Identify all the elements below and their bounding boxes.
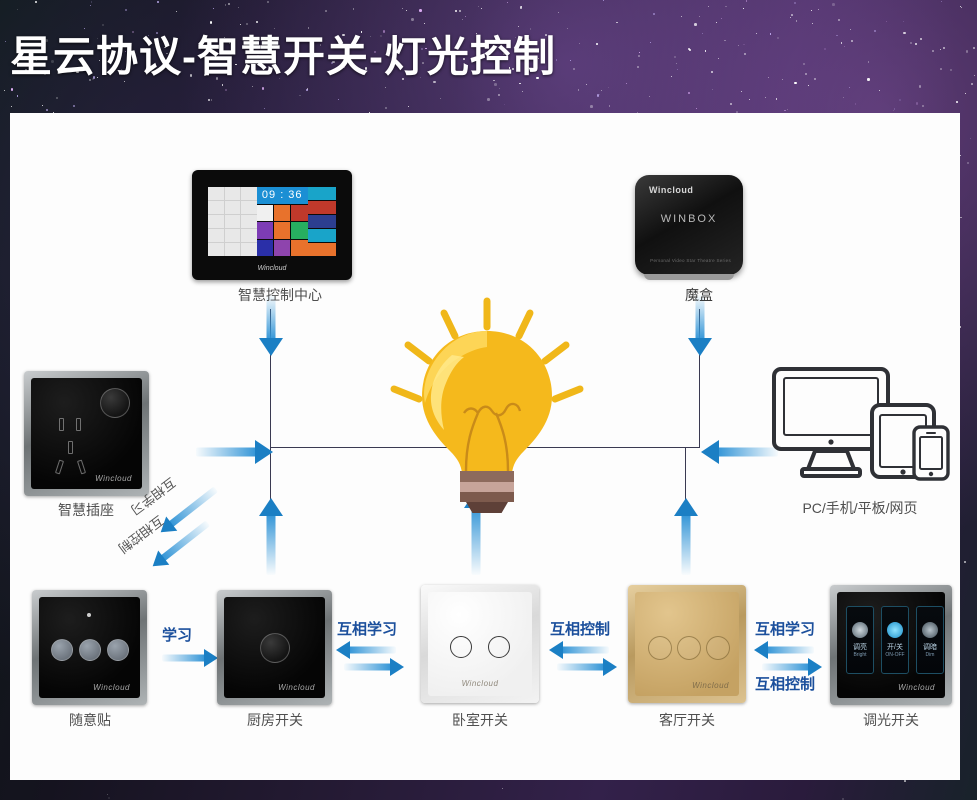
node-switch-living[interactable]: Wincloud [628, 585, 746, 703]
sticker-button-1[interactable] [51, 639, 73, 661]
label-switch-dimmer: 调光开关 [801, 710, 960, 730]
node-switch-sticker[interactable]: Wincloud [32, 590, 147, 705]
page-title: 星云协议-智慧开关-灯光控制 [10, 36, 556, 78]
label-switch-kitchen: 厨房开关 [185, 710, 365, 730]
arrow-head [204, 649, 218, 667]
label-mutual-learn-right: 互相学习 [755, 618, 815, 639]
arrow-mutual-control-middle-back [561, 641, 609, 659]
arrow-head [390, 658, 404, 676]
switch-glass: 调亮 Bright 开/关 ON-OFF 调暗 Dim Wincloud [837, 592, 945, 698]
arrow-head [701, 440, 719, 464]
power-icon [887, 622, 903, 638]
switch-frame: Wincloud [217, 590, 332, 705]
arrow-learn [162, 648, 206, 668]
app-tiles: 09 : 36 [257, 187, 308, 256]
arrow-bedroom-up [464, 505, 488, 575]
node-smart-socket[interactable]: Wincloud [24, 371, 149, 496]
arrow-shaft [682, 513, 691, 575]
node-light-bulb [382, 293, 592, 513]
dimmer-cell-onoff[interactable]: 开/关 ON-OFF [881, 606, 909, 674]
arrow-living-up [674, 513, 698, 575]
node-control-center[interactable]: 09 : 36 Wincloud [192, 170, 352, 280]
dimmer-cell-bright[interactable]: 调亮 Bright [846, 606, 874, 674]
switch-frame: Wincloud [421, 585, 539, 703]
socket-frame: Wincloud [24, 371, 149, 496]
socket-hole-top [68, 441, 73, 454]
living-button-1[interactable] [648, 636, 672, 660]
node-devices[interactable] [768, 365, 954, 485]
dimmer-cell-dim[interactable]: 调暗 Dim [916, 606, 944, 674]
label-devices: PC/手机/平板/网页 [770, 498, 950, 518]
status-tiles [308, 187, 336, 256]
arrow-mutual-learn-left-fwd [344, 658, 392, 676]
dimmer-cell-label-en: ON-OFF [885, 652, 904, 658]
arrow-head [688, 338, 712, 356]
sticker-button-3[interactable] [107, 639, 129, 661]
label-magic-box: 魔盒 [609, 285, 789, 305]
label-switch-living: 客厅开关 [597, 710, 777, 730]
label-switch-bedroom: 卧室开关 [390, 710, 570, 730]
sticker-button-2[interactable] [79, 639, 101, 661]
node-switch-dimmer[interactable]: 调亮 Bright 开/关 ON-OFF 调暗 Dim Wincloud [830, 585, 952, 705]
switch-glass: Wincloud [635, 592, 739, 696]
bedroom-button-2[interactable] [488, 636, 510, 658]
label-learn: 学习 [162, 624, 192, 645]
socket-hole-b2 [77, 460, 86, 475]
switch-brand: Wincloud [278, 683, 315, 692]
bright-icon [852, 622, 868, 638]
switch-glass: Wincloud [224, 597, 325, 698]
arrow-head [336, 641, 350, 659]
arrow-head [674, 498, 698, 516]
arrow-mutual-learn-left-back [348, 641, 396, 659]
switch-brand: Wincloud [692, 681, 729, 690]
switch-brand: Wincloud [462, 679, 499, 688]
light-bulb-icon [382, 293, 592, 513]
switch-frame: Wincloud [32, 590, 147, 705]
arrow-head [603, 658, 617, 676]
keypad-tiles [208, 187, 257, 256]
arrow-head [754, 641, 768, 659]
socket-hole-l1 [59, 418, 64, 431]
control-center-screen: 09 : 36 [208, 187, 336, 256]
switch-brand: Wincloud [93, 683, 130, 692]
status-led [87, 613, 91, 617]
arrow-shaft [472, 505, 481, 575]
arrow-shaft [348, 647, 396, 654]
socket-hole-l2 [76, 418, 81, 431]
label-mutual-control-middle: 互相控制 [550, 618, 610, 639]
node-switch-kitchen[interactable]: Wincloud [217, 590, 332, 705]
arrow-mutual-control-middle-fwd [557, 658, 605, 676]
arrow-shaft [561, 647, 609, 654]
title-bar: 星云协议-智慧开关-灯光控制 [0, 0, 977, 113]
bedroom-button-1[interactable] [450, 636, 472, 658]
arrow-shaft [766, 647, 814, 654]
node-magic-box[interactable]: Wincloud WINBOX Personal Video Star Thea… [635, 175, 743, 275]
socket-touch-button[interactable] [100, 388, 130, 418]
kitchen-button-1[interactable] [260, 633, 290, 663]
socket-hole-b1 [55, 460, 64, 475]
arrow-shaft [557, 664, 605, 671]
diagram-panel: 09 : 36 Wincloud 智慧控制中心 Wincloud WINBOX … [10, 113, 960, 780]
dimmer-cell-label-en: Dim [926, 652, 935, 658]
dimmer-cell-label-cn: 调亮 [853, 642, 867, 652]
switch-glass: Wincloud [428, 592, 532, 696]
clock-tile: 09 : 36 [257, 187, 308, 204]
magic-box-model: WINBOX [661, 213, 718, 225]
arrow-shaft [162, 655, 206, 662]
arrow-head [549, 641, 563, 659]
dim-icon [922, 622, 938, 638]
switch-frame: Wincloud [628, 585, 746, 703]
socket-brand: Wincloud [95, 474, 132, 483]
arrow-socket-to-bus [196, 440, 258, 464]
magic-box-base [644, 274, 735, 280]
switch-frame: 调亮 Bright 开/关 ON-OFF 调暗 Dim Wincloud [830, 585, 952, 705]
dimmer-cell-label-en: Bright [853, 652, 866, 658]
label-mutual-control-right: 互相控制 [755, 673, 815, 694]
socket-glass: Wincloud [31, 378, 142, 489]
diagonal-link-socket: 互相学习 互相控制 [150, 483, 260, 573]
arrow-shaft [267, 513, 276, 575]
switch-brand: Wincloud [898, 683, 935, 692]
node-switch-bedroom[interactable]: Wincloud [421, 585, 539, 703]
living-button-3[interactable] [706, 636, 730, 660]
multi-device-icon [768, 365, 954, 485]
magic-box-fine-print: Personal Video Star Theatre Series [650, 258, 731, 263]
arrow-head [259, 338, 283, 356]
magic-box-logo: Wincloud [649, 185, 693, 195]
switch-glass: Wincloud [39, 597, 140, 698]
arrow-kitchen-up [259, 513, 283, 575]
arrow-shaft [762, 664, 810, 671]
dimmer-cell-label-cn: 调暗 [923, 642, 937, 652]
dimmer-cell-label-cn: 开/关 [887, 642, 903, 652]
arrow-shaft [196, 448, 258, 457]
control-center-brand: Wincloud [258, 265, 287, 272]
label-control-center: 智慧控制中心 [190, 285, 370, 305]
arrow-shaft [344, 664, 392, 671]
arrow-head [259, 498, 283, 516]
label-mutual-learn-left: 互相学习 [337, 618, 397, 639]
arrow-mutual-learn-right-back [766, 641, 814, 659]
arrow-head [255, 440, 273, 464]
living-button-2[interactable] [677, 636, 701, 660]
label-switch-sticker: 随意贴 [10, 710, 180, 730]
